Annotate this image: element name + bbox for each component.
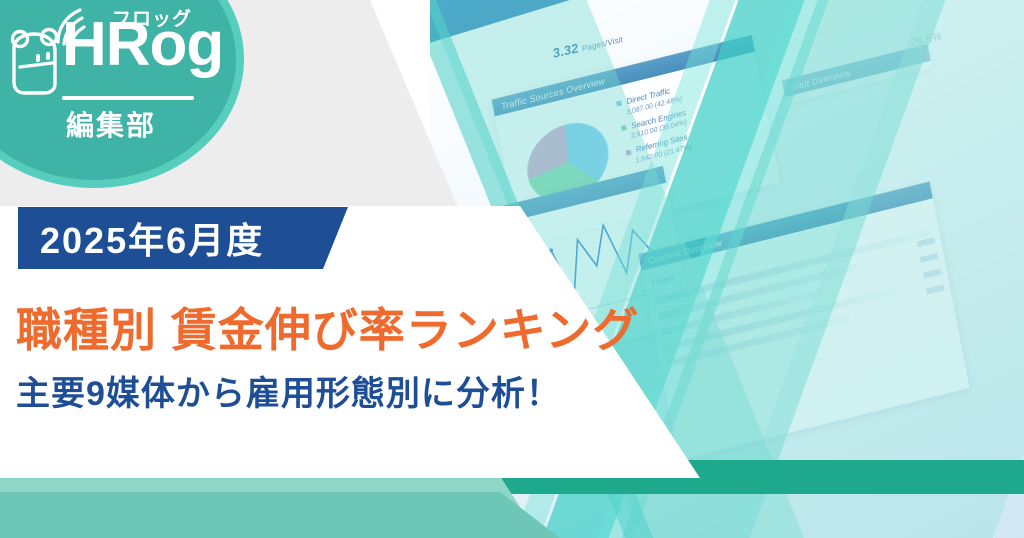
date-badge-label: 2025年6月度 (40, 212, 264, 264)
date-badge: 2025年6月度 (18, 207, 348, 269)
accent-band-teal-mid (0, 492, 560, 538)
banner-image: 3.32 Pages/Visit 26.5% Traffic Sources O… (0, 0, 1024, 538)
page-subtitle: 主要9媒体から雇用形態別に分析！ (16, 366, 561, 415)
page-title: 職種別 賃金伸び率ランキング (16, 294, 639, 360)
hrog-logo[interactable]: フロッグ HRog 編集部 (0, 0, 244, 188)
logo-divider (62, 96, 194, 100)
logo-wordmark: HRog (62, 14, 223, 76)
logo-subtitle: 編集部 (66, 104, 156, 144)
